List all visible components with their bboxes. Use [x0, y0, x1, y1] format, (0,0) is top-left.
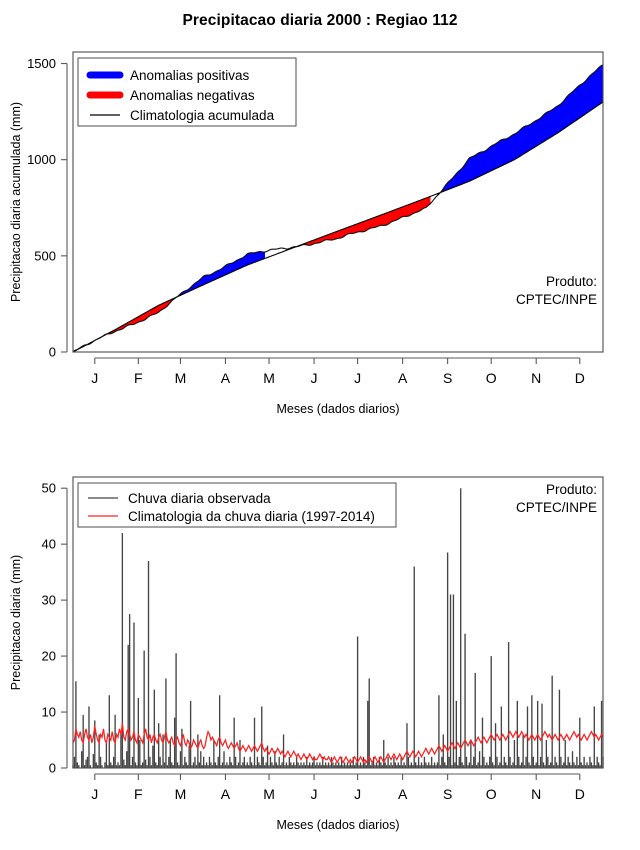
x-tick-label: N [531, 370, 541, 386]
x-tick-label: M [175, 370, 187, 386]
produto-line-1: Produto: [546, 274, 597, 289]
x-tick-label: D [575, 370, 585, 386]
y-tick-label: 50 [42, 481, 56, 496]
y-tick-label: 40 [42, 537, 56, 552]
x-tick-label: A [398, 370, 408, 386]
x-tick-label: S [443, 786, 452, 802]
legend-label: Anomalias positivas [130, 68, 250, 83]
x-axis-label: Meses (dados diarios) [277, 818, 400, 832]
x-tick-label: F [134, 370, 143, 386]
y-axis-label: Precipitacao diaria acumulada (mm) [9, 102, 23, 302]
top-panel: 050010001500Precipitacao diaria acumulad… [0, 28, 640, 428]
x-tick-label: J [91, 370, 98, 386]
x-tick-label: M [175, 786, 187, 802]
x-axis-label: Meses (dados diarios) [277, 402, 400, 416]
x-tick-label: O [486, 370, 497, 386]
y-tick-label: 1000 [27, 152, 56, 167]
accumulated-precipitation-chart: 050010001500Precipitacao diaria acumulad… [0, 28, 640, 428]
y-tick-label: 20 [42, 649, 56, 664]
legend: Chuva diaria observadaClimatologia da ch… [78, 483, 396, 527]
x-tick-label: J [354, 786, 361, 802]
y-tick-label: 30 [42, 593, 56, 608]
legend-label: Climatologia acumulada [130, 108, 275, 123]
x-tick-label: J [354, 370, 361, 386]
legend: Anomalias positivasAnomalias negativasCl… [78, 58, 296, 126]
y-tick-label: 0 [49, 345, 56, 360]
y-axis-label: Precipitacao diaria (mm) [9, 555, 23, 690]
y-tick-label: 500 [34, 248, 56, 263]
x-tick-label: J [311, 370, 318, 386]
produto-line-2: CPTEC/INPE [516, 500, 597, 515]
x-tick-label: A [221, 370, 231, 386]
y-tick-label: 1500 [27, 56, 56, 71]
legend-label: Anomalias negativas [130, 88, 255, 103]
x-tick-label: J [91, 786, 98, 802]
chart-page: Precipitacao diaria 2000 : Regiao 112 05… [0, 0, 640, 850]
x-tick-label: A [221, 786, 231, 802]
y-tick-label: 0 [49, 761, 56, 776]
x-tick-label: M [263, 786, 275, 802]
legend-label: Chuva diaria observada [128, 491, 271, 506]
x-tick-label: O [486, 786, 497, 802]
produto-line-1: Produto: [546, 482, 597, 497]
x-tick-label: J [311, 786, 318, 802]
x-tick-label: D [575, 786, 585, 802]
bottom-panel: 01020304050Precipitacao diaria (mm)JFMAM… [0, 455, 640, 850]
x-tick-label: N [531, 786, 541, 802]
x-tick-label: F [134, 786, 143, 802]
x-tick-label: S [443, 370, 452, 386]
x-tick-label: M [263, 370, 275, 386]
daily-precipitation-chart: 01020304050Precipitacao diaria (mm)JFMAM… [0, 455, 640, 850]
produto-line-2: CPTEC/INPE [516, 292, 597, 307]
x-tick-label: A [398, 786, 408, 802]
y-tick-label: 10 [42, 705, 56, 720]
legend-label: Climatologia da chuva diaria (1997-2014) [128, 509, 375, 524]
